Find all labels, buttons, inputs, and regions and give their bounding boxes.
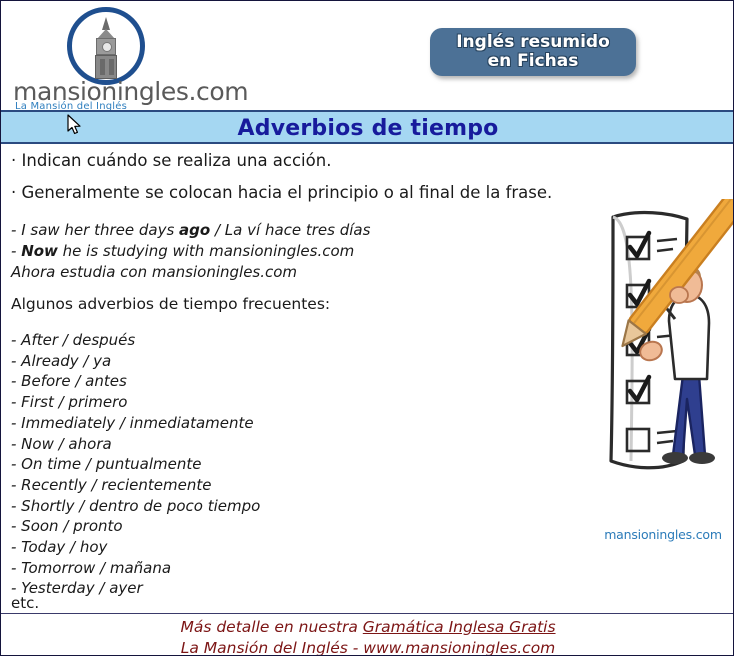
example-line: - I saw her three days ago / La ví hace … — [11, 220, 370, 241]
bullet-item: · Indican cuándo se realiza una acción. — [11, 151, 331, 170]
list-item: - Recently / recientemente — [11, 475, 260, 496]
list-item: - Shortly / dentro de poco tiempo — [11, 496, 260, 517]
bullet-item: · Generalmente se colocan hacia el princ… — [11, 183, 552, 202]
list-item: - Tomorrow / mañana — [11, 558, 260, 579]
example-line: Ahora estudia con mansioningles.com — [11, 262, 370, 283]
big-ben-tower-icon — [93, 17, 119, 79]
tower-shaft — [95, 55, 117, 79]
list-item: - Yesterday / ayer — [11, 578, 260, 599]
page-title: Adverbios de tiempo — [1, 116, 734, 141]
footer-line-1: Más detalle en nuestra Gramática Inglesa… — [1, 617, 734, 638]
footer: Más detalle en nuestra Gramática Inglesa… — [1, 613, 734, 656]
list-item: - Now / ahora — [11, 434, 260, 455]
list-item: - Immediately / inmediatamente — [11, 413, 260, 434]
example-sentences: - I saw her three days ago / La ví hace … — [11, 220, 370, 283]
list-item: - Already / ya — [11, 351, 260, 372]
badge-text: Inglés resumido en Fichas — [430, 33, 636, 71]
list-item: - Soon / pronto — [11, 516, 260, 537]
clock-face-icon — [102, 42, 112, 52]
tower-clock — [96, 38, 116, 55]
main-content: · Indican cuándo se realiza una acción. … — [1, 144, 734, 613]
badge-line-1: Inglés resumido — [430, 33, 636, 52]
example-line: - Now he is studying with mansioningles.… — [11, 241, 370, 262]
ingles-resumido-badge[interactable]: Inglés resumido en Fichas — [430, 28, 636, 76]
list-item: - First / primero — [11, 392, 260, 413]
footer-line-2: La Mansión del Inglés - www.mansioningle… — [1, 638, 734, 656]
gramatica-inglesa-link[interactable]: Gramática Inglesa Gratis — [363, 618, 556, 636]
list-item: - Today / hoy — [11, 537, 260, 558]
etc-label: etc. — [11, 594, 39, 612]
list-item: - Before / antes — [11, 371, 260, 392]
person-with-pencil-checklist-icon — [583, 199, 733, 499]
footer-prefix: Más detalle en nuestra — [180, 618, 362, 636]
title-bar: Adverbios de tiempo — [1, 110, 734, 144]
list-item: - On time / puntualmente — [11, 454, 260, 475]
list-intro: Algunos adverbios de tiempo frecuentes: — [11, 295, 330, 313]
adverb-list: - After / después - Already / ya - Befor… — [11, 330, 260, 599]
list-item: - After / después — [11, 330, 260, 351]
illustration-caption: mansioningles.com — [593, 527, 733, 542]
ficha-card: mansioningles.com La Mansión del Inglés … — [0, 0, 734, 656]
mouse-pointer-icon — [67, 114, 83, 136]
header: mansioningles.com La Mansión del Inglés … — [1, 1, 734, 110]
badge-line-2: en Fichas — [430, 52, 636, 71]
site-logo[interactable]: mansioningles.com La Mansión del Inglés — [9, 5, 209, 105]
